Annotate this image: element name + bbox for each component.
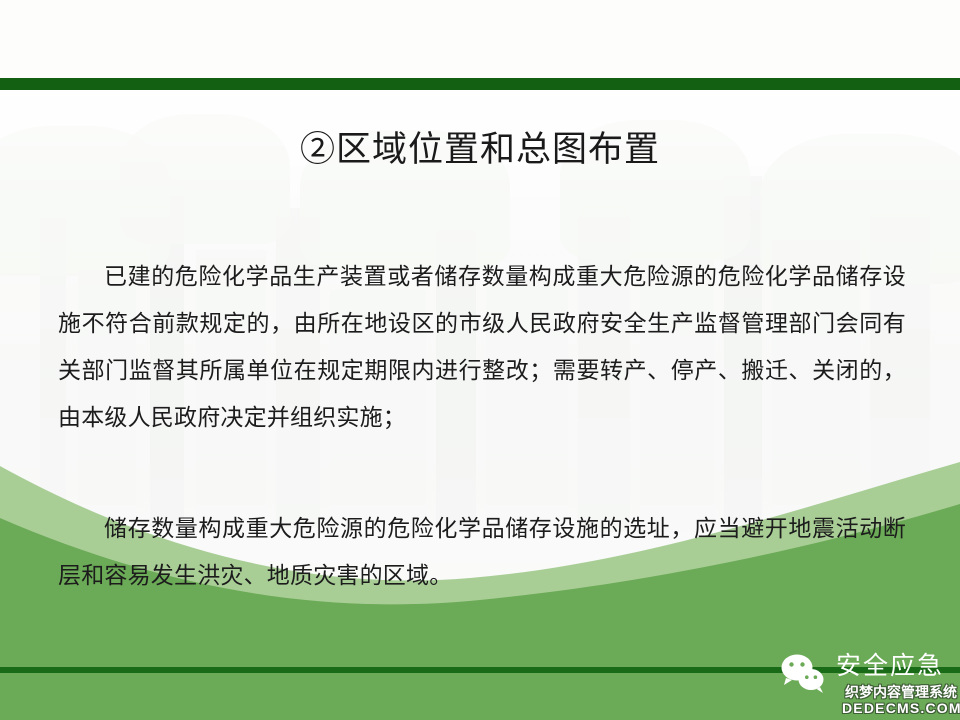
body-paragraph-1: 已建的危险化学品生产装置或者储存数量构成重大危险源的危险化学品储存设施不符合前款…: [58, 253, 906, 441]
wechat-watermark: 安全应急: [778, 648, 960, 710]
body-paragraph-2: 储存数量构成重大危险源的危险化学品储存设施的选址，应当避开地震活动断层和容易发生…: [58, 505, 906, 599]
page-title: ②区域位置和总图布置: [0, 126, 960, 174]
wechat-icon: [778, 652, 830, 696]
slide-canvas: ②区域位置和总图布置 已建的危险化学品生产装置或者储存数量构成重大危险源的危险化…: [0, 0, 960, 720]
watermark-brand-text: 安全应急: [836, 650, 944, 684]
top-green-rule: [0, 78, 960, 90]
